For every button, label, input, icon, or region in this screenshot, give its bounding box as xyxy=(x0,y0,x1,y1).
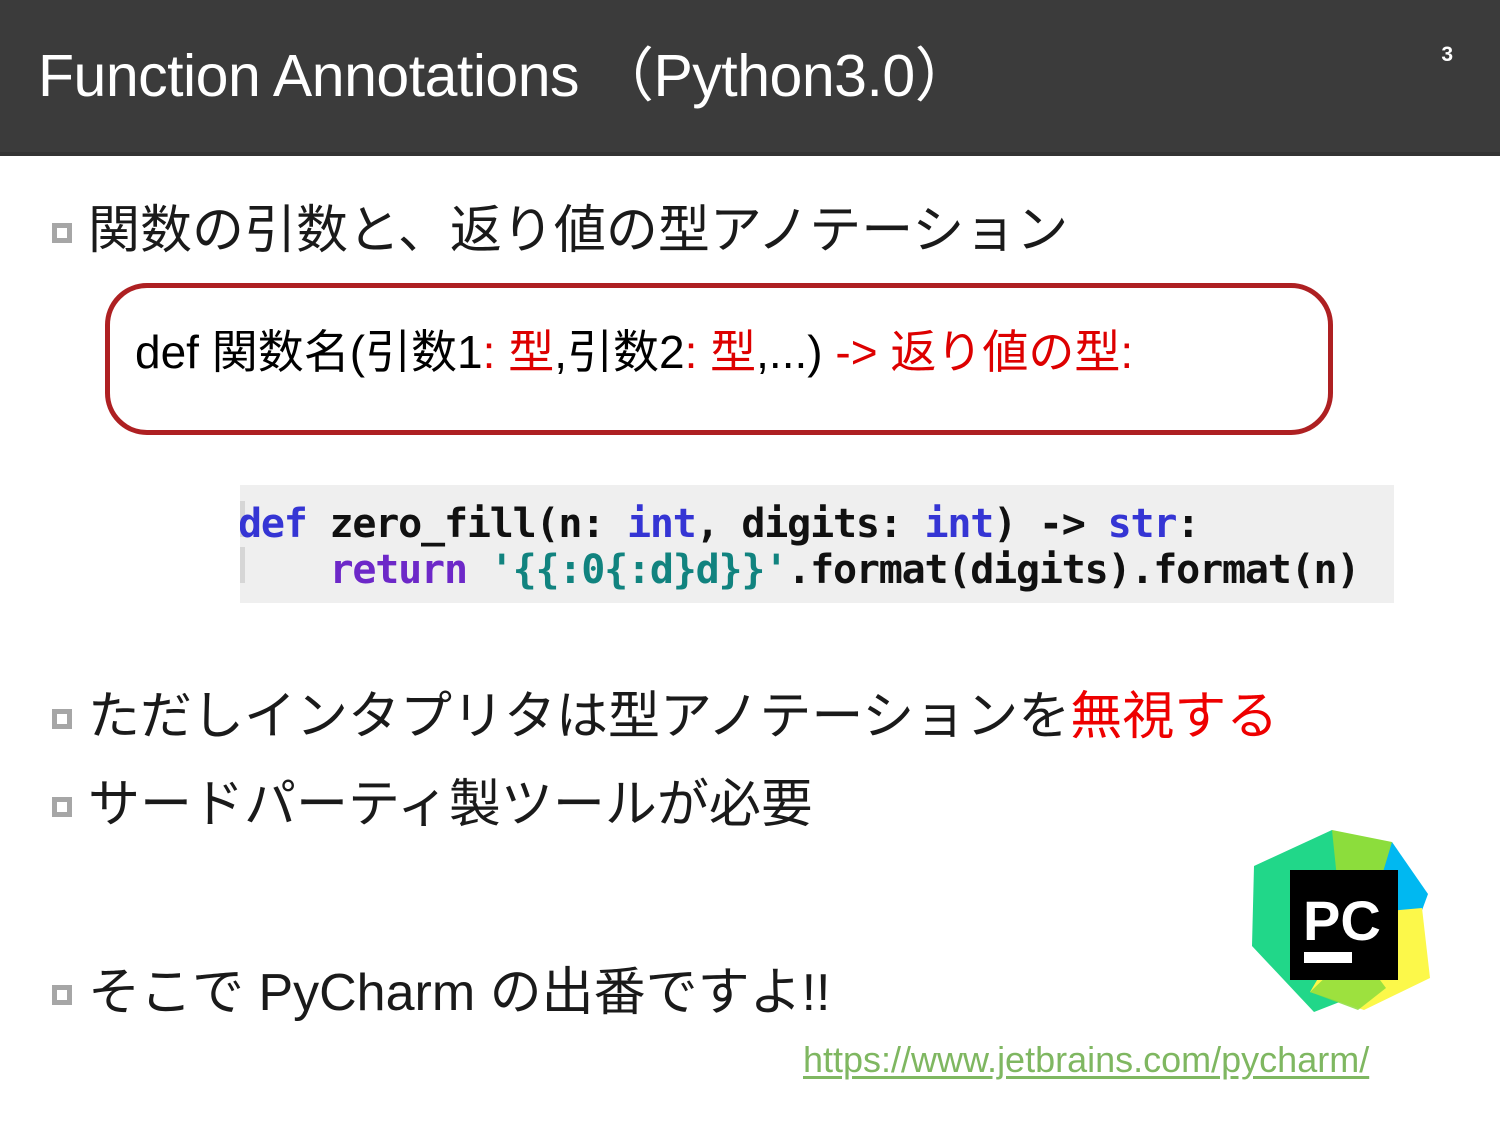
bullet-item-annotations: 関数の引数と、返り値の型アノテーション xyxy=(52,200,1068,262)
code-line: return '{{:0{:d}d}}'.format(digits).form… xyxy=(240,547,1359,593)
syntax-seg-type2: : 型 xyxy=(685,326,757,378)
code-token-int-1: int xyxy=(627,501,696,547)
page-title: Function Annotations （Python3.0） xyxy=(38,38,973,114)
code-token-mid: , digits: xyxy=(696,501,925,547)
svg-text:PC: PC xyxy=(1303,889,1381,952)
syntax-signature-text: def 関数名(引数1: 型,引数2: 型,...) -> 返り値の型: xyxy=(135,324,1133,380)
syntax-seg-def: def 関数名(引数1 xyxy=(135,326,483,378)
bullet-item-label: そこで PyCharm の出番ですよ!! xyxy=(88,962,831,1024)
code-token-indent xyxy=(240,547,330,593)
code-token-str: str xyxy=(1108,501,1177,547)
square-bullet-icon xyxy=(52,985,72,1005)
syntax-callout-box: def 関数名(引数1: 型,引数2: 型,...) -> 返り値の型: xyxy=(105,283,1333,435)
square-bullet-icon xyxy=(52,223,72,243)
code-line: def zero_fill(n: int, digits: int) -> st… xyxy=(240,501,1199,547)
bullet-item-third-party-tool: サードパーティ製ツールが必要 xyxy=(52,774,813,836)
syntax-seg-type1: : 型 xyxy=(483,326,555,378)
bullet-item-label: サードパーティ製ツールが必要 xyxy=(88,774,813,836)
bullet-item-label: ただしインタプリタは型アノテーションを無視する xyxy=(88,686,1278,748)
square-bullet-icon xyxy=(52,709,72,729)
bullet-text-black: ただしインタプリタは型アノテーションを xyxy=(88,688,1070,746)
code-token-funcname: zero_fill(n: xyxy=(330,501,627,547)
code-token-colon: : xyxy=(1176,501,1199,547)
bullet-text-emphasis: 無視する xyxy=(1070,688,1278,746)
code-token-def: def xyxy=(240,501,330,547)
bullet-item-label: 関数の引数と、返り値の型アノテーション xyxy=(88,200,1068,262)
code-screenshot: def zero_fill(n: int, digits: int) -> st… xyxy=(240,485,1394,603)
bullet-item-interpreter-ignores: ただしインタプリタは型アノテーションを無視する xyxy=(52,686,1278,748)
code-token-arrow: ) -> xyxy=(993,501,1107,547)
code-token-int-2: int xyxy=(924,501,993,547)
code-token-string: '{{:0{:d}d}}' xyxy=(490,547,787,593)
pycharm-logo-icon: PC xyxy=(1246,828,1450,1026)
code-token-format: .format(digits).format(n) xyxy=(787,547,1359,593)
slide-header-underline xyxy=(0,152,1500,156)
syntax-seg-ellipsis: ,...) xyxy=(756,326,822,378)
syntax-seg-return: -> 返り値の型: xyxy=(823,326,1134,378)
code-token-return: return xyxy=(330,547,490,593)
pycharm-website-link[interactable]: https://www.jetbrains.com/pycharm/ xyxy=(803,1038,1369,1082)
square-bullet-icon xyxy=(52,797,72,817)
bullet-item-pycharm: そこで PyCharm の出番ですよ!! xyxy=(52,962,831,1024)
syntax-seg-arg2: ,引数2 xyxy=(554,326,684,378)
page-number: 3 xyxy=(1441,43,1453,67)
